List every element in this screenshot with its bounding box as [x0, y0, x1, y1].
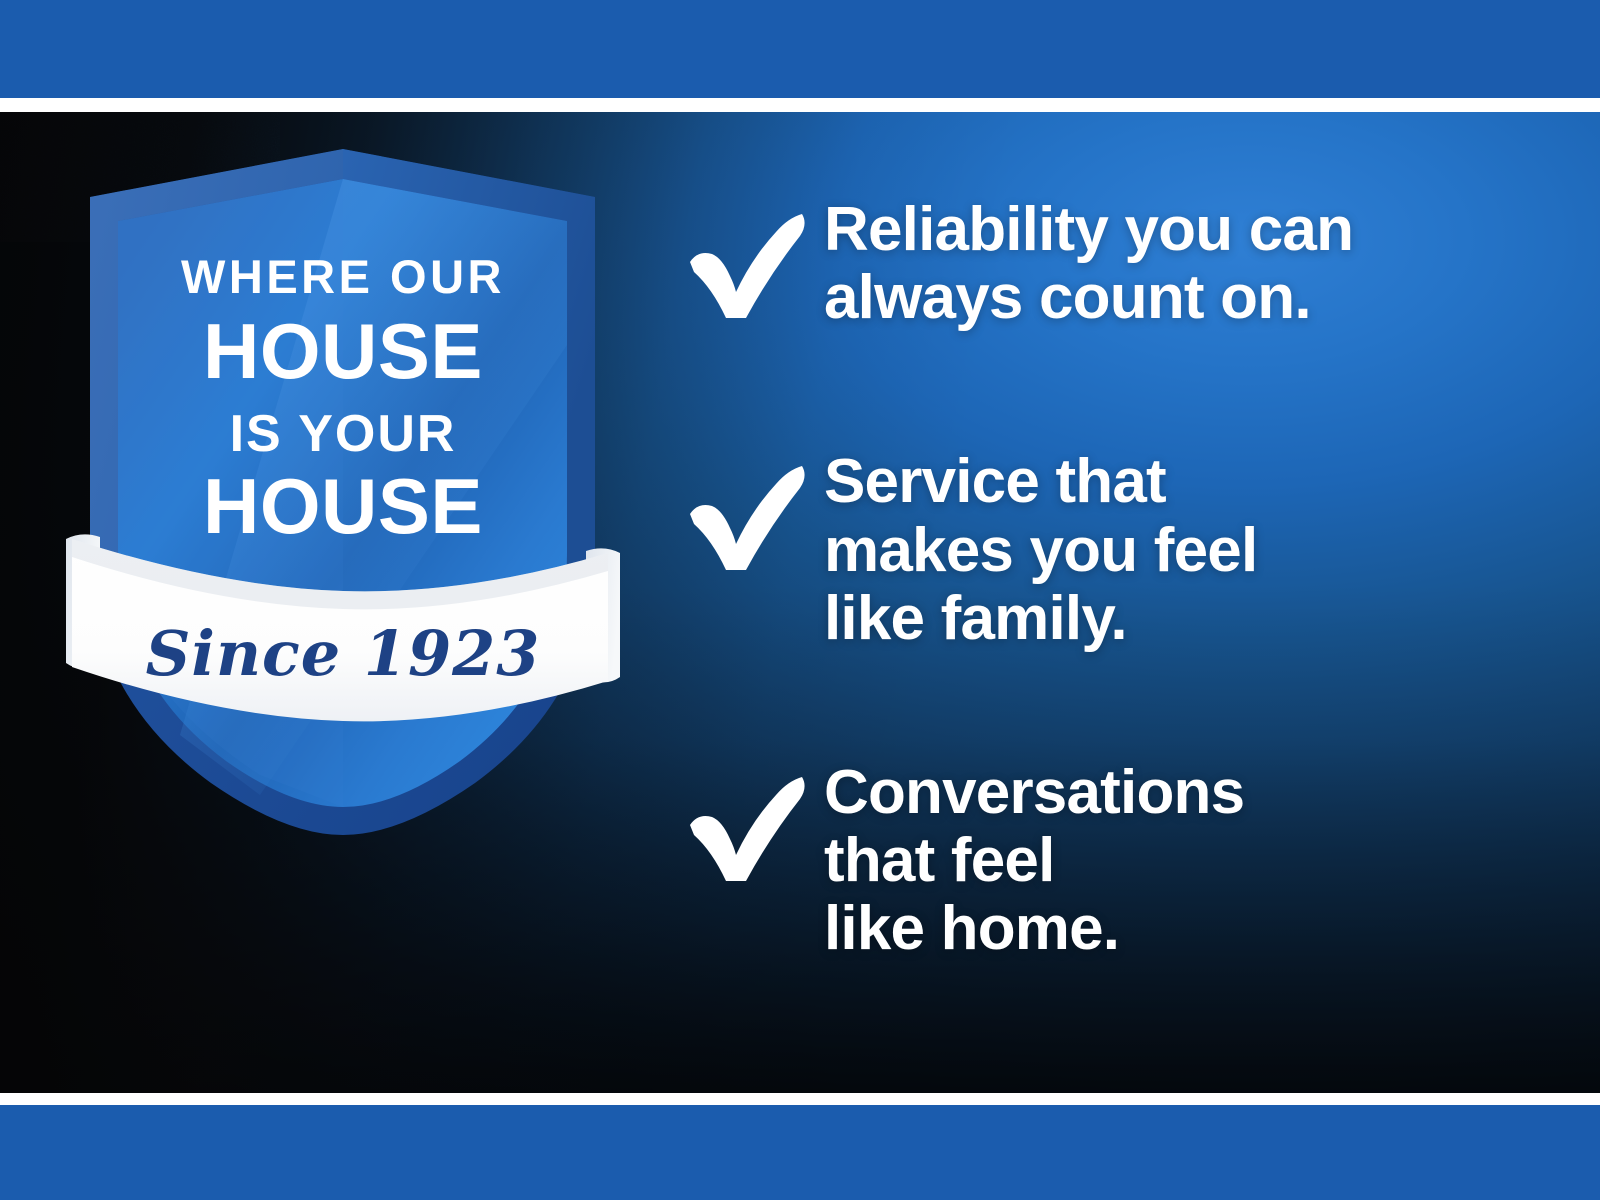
logo-shield: WHERE OUR HOUSE IS YOUR HOUSE Since 1923 — [60, 135, 620, 835]
benefit-text: Reliability you can always count on. — [824, 196, 1502, 332]
benefit-item: Conversations that feel like home. — [672, 759, 1502, 964]
shield-line-2: HOUSE — [203, 307, 483, 395]
checkmark-icon — [672, 759, 824, 885]
shield-line-4: HOUSE — [203, 462, 483, 550]
shield-line-3: IS YOUR — [230, 405, 457, 463]
benefit-text: Service that makes you feel like family. — [824, 448, 1502, 653]
bottom-white-divider — [0, 1093, 1600, 1105]
promo-graphic: WHERE OUR HOUSE IS YOUR HOUSE Since 1923 — [0, 0, 1600, 1200]
checkmark-icon — [672, 196, 824, 322]
benefits-list: Reliability you can always count on. Ser… — [672, 196, 1502, 964]
checkmark-icon — [672, 448, 824, 574]
shield-line-1: WHERE OUR — [181, 250, 505, 303]
benefit-text: Conversations that feel like home. — [824, 759, 1502, 964]
benefit-item: Service that makes you feel like family. — [672, 448, 1502, 653]
top-brand-bar — [0, 0, 1600, 98]
top-white-divider — [0, 98, 1600, 112]
bottom-brand-bar — [0, 1105, 1600, 1200]
ribbon-since-text: Since 1923 — [146, 617, 541, 690]
benefit-item: Reliability you can always count on. — [672, 196, 1502, 332]
